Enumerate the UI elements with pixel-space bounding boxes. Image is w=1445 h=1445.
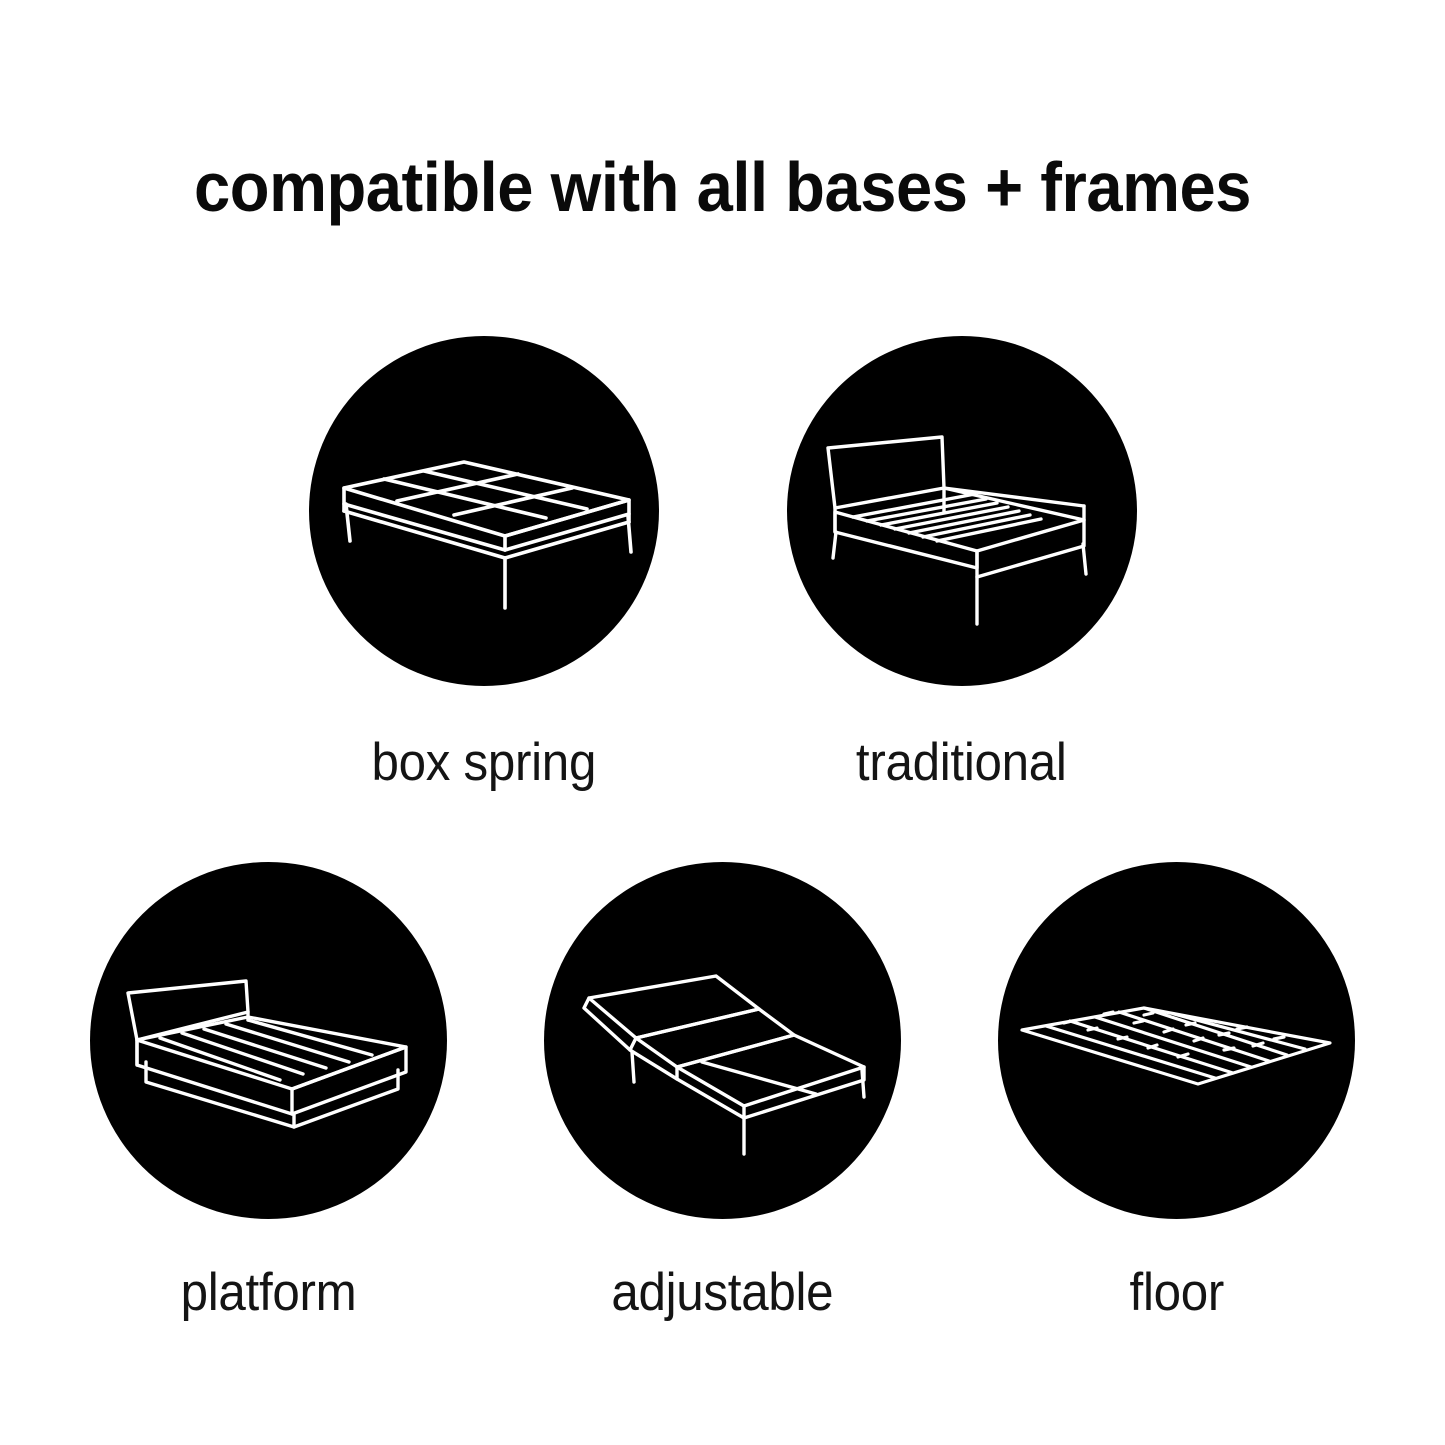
base-type-row-2: platform [0, 862, 1445, 1319]
base-type-item-floor[interactable]: floor [998, 862, 1355, 1319]
base-type-label: traditional [856, 736, 1067, 789]
base-type-label: box spring [371, 736, 596, 789]
platform-bed-icon [90, 862, 447, 1219]
base-type-label: floor [1129, 1266, 1223, 1319]
base-type-label: adjustable [612, 1266, 834, 1319]
floor-icon [998, 862, 1355, 1219]
box-spring-bed-icon [309, 336, 659, 686]
base-type-label: platform [181, 1266, 357, 1319]
infographic-canvas: compatible with all bases + frames [0, 0, 1445, 1445]
base-type-item-box-spring[interactable]: box spring [309, 336, 659, 789]
traditional-bed-frame-icon [787, 336, 1137, 686]
base-type-item-platform[interactable]: platform [90, 862, 447, 1319]
page-title: compatible with all bases + frames [51, 152, 1395, 222]
base-type-item-adjustable[interactable]: adjustable [544, 862, 901, 1319]
adjustable-base-icon [544, 862, 901, 1219]
base-type-row-1: box spring [0, 336, 1445, 789]
base-type-item-traditional[interactable]: traditional [787, 336, 1137, 789]
